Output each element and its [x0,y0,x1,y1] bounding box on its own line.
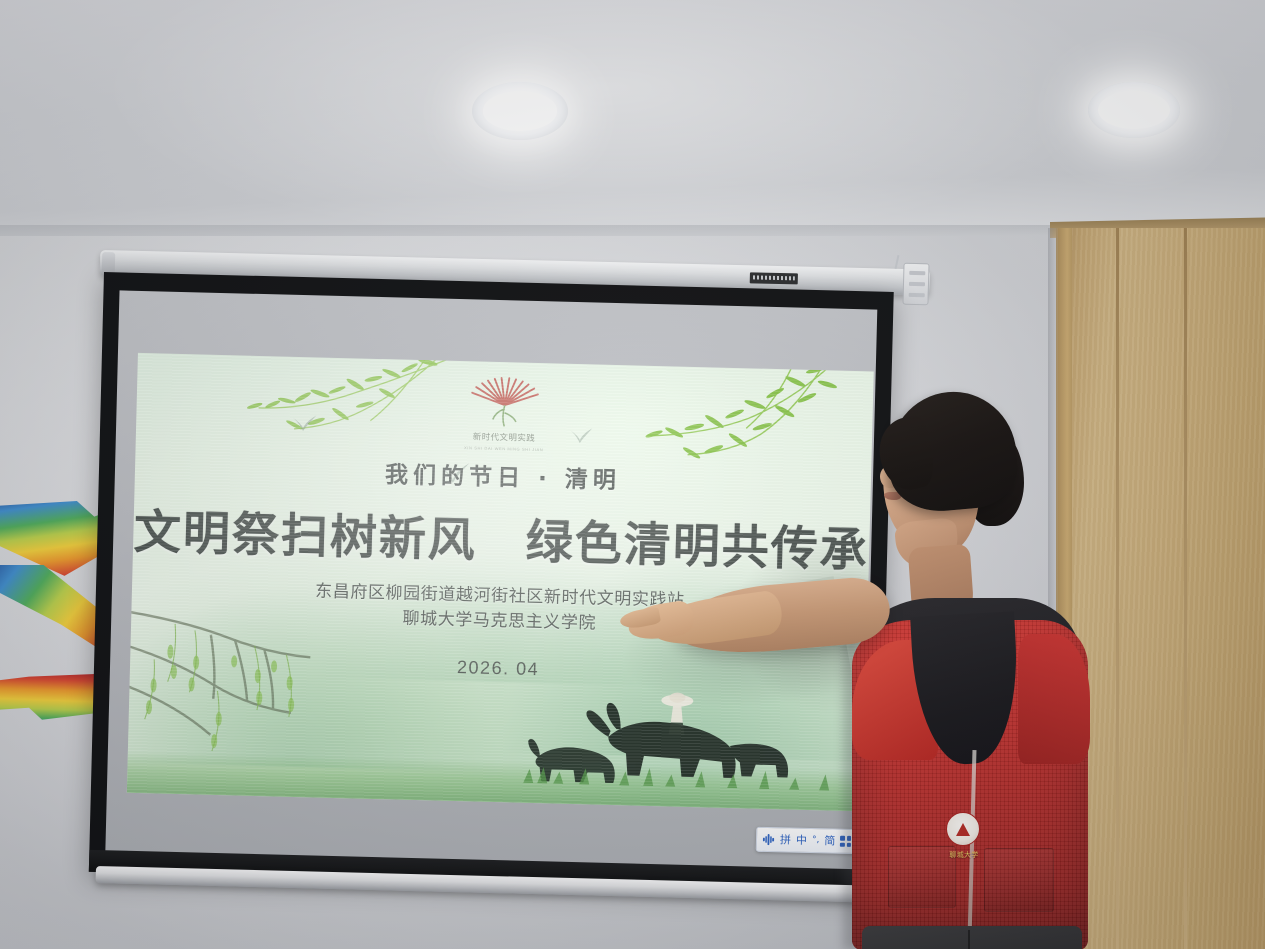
presenter-volunteer: 聊城大学 [648,370,1088,949]
university-emblem-badge [946,812,980,846]
switch-button-down[interactable] [909,293,925,297]
wood-panel-seam [1116,228,1119,949]
screen-control-switch[interactable] [902,263,929,306]
room-photo-scene: 新时代文明实践 XIN SHI DAI WEN MING SHI JIAN 我们… [0,0,1265,949]
red-volunteer-vest: 聊城大学 [852,620,1088,949]
logo-text: 新时代文明实践 [452,430,556,445]
swallow-silhouette [288,413,318,434]
wood-panel-seam [1184,228,1187,949]
switch-button-up[interactable] [909,271,925,275]
ceiling-downlight-icon [1088,82,1180,138]
logo-sunburst-icon [452,375,557,436]
pants-seam [968,930,970,949]
ceiling-downlight-icon [472,82,568,140]
roller-brand-label [750,272,798,284]
logo-subtext: XIN SHI DAI WEN MING SHI JIAN [452,445,556,453]
vest-shoulder-right [1018,634,1090,764]
ceiling-light-wash [0,0,1265,250]
downlight-core [483,91,558,130]
downlight-core [1098,91,1170,129]
swallow-silhouette [566,426,594,445]
xinshidai-wenming-shijian-logo: 新时代文明实践 XIN SHI DAI WEN MING SHI JIAN [452,375,558,454]
emblem-mark [956,823,970,836]
dark-pants [862,926,1082,949]
switch-button-stop[interactable] [909,282,925,286]
badge-text: 聊城大学 [930,850,998,860]
